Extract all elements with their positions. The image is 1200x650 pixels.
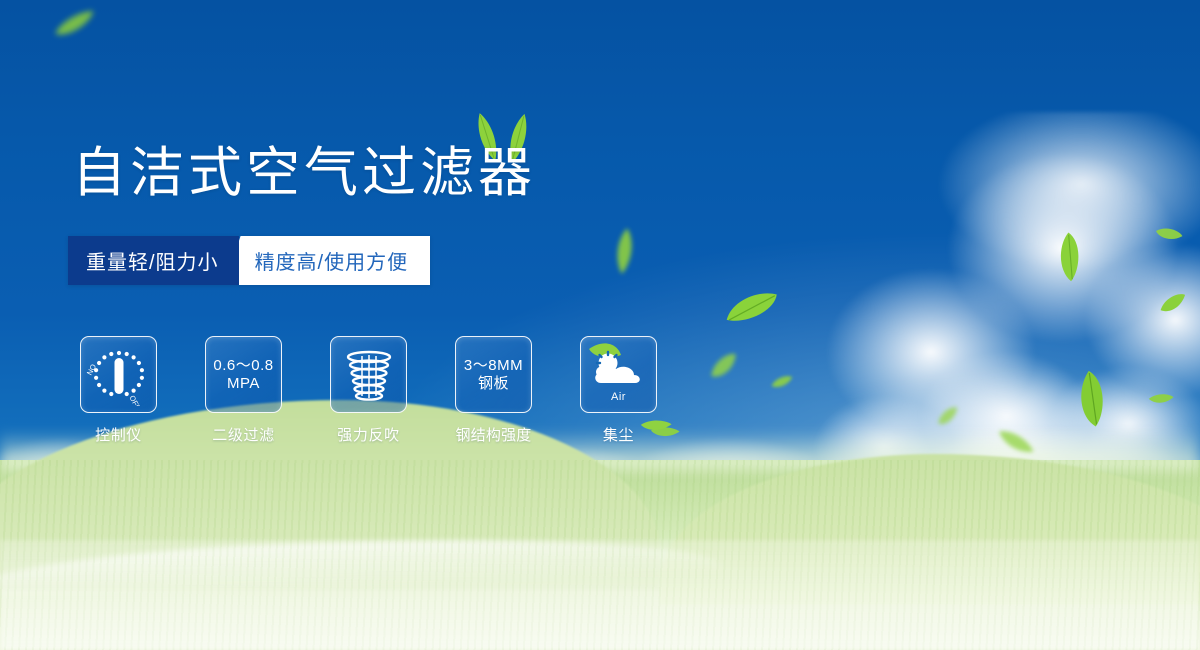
- feature-label: 二级过滤: [212, 424, 274, 445]
- cloud-air-icon: Air: [580, 336, 657, 413]
- pressure-text-icon: 0.6～0.8 MPA: [205, 336, 282, 413]
- tagline-right: 精度高/使用方便: [225, 236, 431, 285]
- svg-text:NO: NO: [86, 362, 98, 376]
- banner-content: 自洁式空气过滤器 重量轻/阻力小 精度高/使用方便: [0, 0, 1200, 650]
- page-title: 自洁式空气过滤器: [72, 146, 536, 200]
- air-label: Air: [581, 391, 656, 403]
- tagline-left: 重量轻/阻力小: [68, 236, 239, 285]
- feature-label: 集尘: [603, 424, 634, 445]
- coil-filter-icon: [330, 336, 407, 413]
- feature-icon-text: 3～8MM 钢板: [464, 357, 523, 392]
- svg-text:OFF: OFF: [127, 393, 142, 405]
- feature-icon-text: 0.6～0.8 MPA: [213, 357, 273, 392]
- feature-label: 控制仪: [95, 424, 142, 445]
- feature-item-steel-structure[interactable]: 3～8MM 钢板 钢结构强度: [455, 336, 532, 445]
- feature-label: 强力反吹: [337, 424, 399, 445]
- feature-item-dust-collection[interactable]: Air 集尘: [580, 336, 657, 445]
- gauge-icon: NO OFF: [80, 336, 157, 413]
- feature-item-two-stage-filter[interactable]: 0.6～0.8 MPA 二级过滤: [205, 336, 282, 445]
- tagline-badge: 重量轻/阻力小 精度高/使用方便: [68, 236, 430, 285]
- feature-item-strong-backblow[interactable]: 强力反吹: [330, 336, 407, 445]
- hero-banner: 自洁式空气过滤器 重量轻/阻力小 精度高/使用方便: [0, 0, 1200, 650]
- feature-item-control-gauge[interactable]: NO OFF 控制仪: [80, 336, 157, 445]
- feature-list: NO OFF 控制仪 0.6～0.8 MPA 二级过滤: [80, 336, 657, 445]
- steel-text-icon: 3～8MM 钢板: [455, 336, 532, 413]
- feature-label: 钢结构强度: [455, 424, 531, 445]
